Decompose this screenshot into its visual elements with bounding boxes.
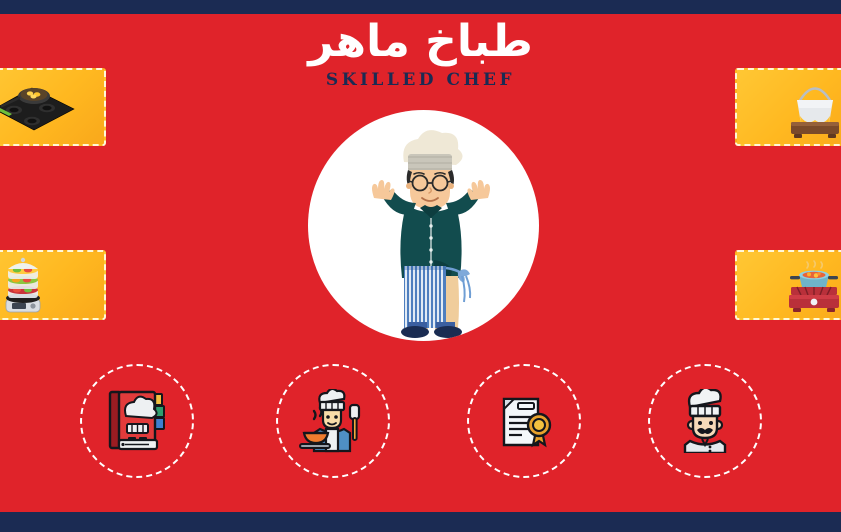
food-steamer-appliance-icon [0, 252, 104, 318]
feature-icon-row [0, 364, 841, 480]
induction-cooktop-with-frying-pan-icon [0, 70, 104, 144]
card-top-right[interactable] [735, 68, 841, 146]
certificate-icon [492, 389, 556, 453]
chef-illustration-circle [308, 110, 539, 341]
page-heading: طباخ ماهر SKILLED CHEF [0, 18, 841, 90]
feature-certificate[interactable] [467, 364, 581, 478]
recipe-book-icon [106, 388, 168, 454]
bottom-navy-bar [0, 512, 841, 532]
gas-stove-with-soup-pot-icon [737, 252, 841, 318]
top-navy-bar [0, 0, 841, 14]
card-bottom-left[interactable] [0, 250, 106, 320]
chef-cooking-icon [298, 389, 368, 453]
chef-illustration [308, 110, 539, 341]
page-title-english: SKILLED CHEF [0, 70, 841, 90]
card-bottom-right[interactable] [735, 250, 841, 320]
chef-avatar-icon [674, 389, 736, 453]
feature-chef-avatar[interactable] [648, 364, 762, 478]
cooking-pot-on-wooden-stand-icon [737, 70, 841, 144]
feature-recipe-book[interactable] [80, 364, 194, 478]
card-top-left[interactable] [0, 68, 106, 146]
poster-canvas: طباخ ماهر SKILLED CHEF [0, 0, 841, 532]
page-title-arabic: طباخ ماهر [0, 18, 841, 66]
feature-chef-cooking[interactable] [276, 364, 390, 478]
